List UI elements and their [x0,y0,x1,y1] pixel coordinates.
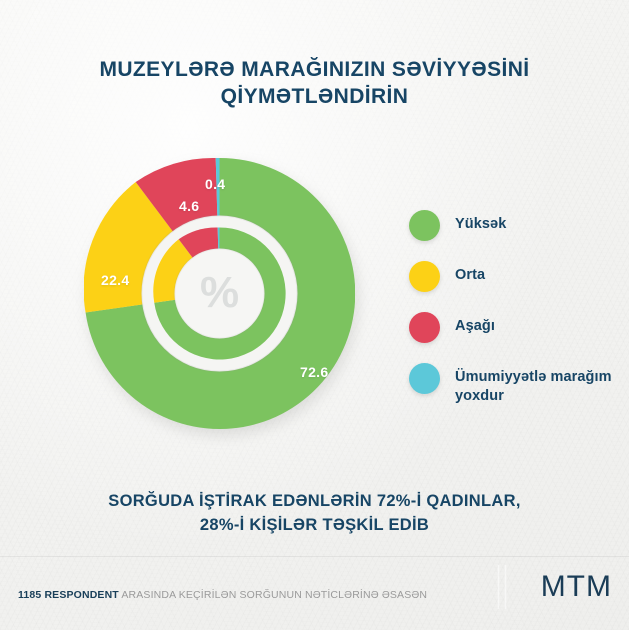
slice-value-yuksek: 72.6 [300,364,328,380]
legend-item-maragim-yoxdur[interactable]: Ümumiyyətlə marağım yoxdur [409,363,614,406]
legend-item-yuksek[interactable]: Yüksək [409,210,614,242]
slice-value-orta: 22.4 [101,272,129,288]
statement-line-2: 28%-İ KİŞİLƏR TƏŞKİL EDİB [0,513,629,537]
slice-value-asagi: 4.6 [179,198,199,214]
legend-label-maragim-yoxdur: Ümumiyyətlə marağım yoxdur [455,363,614,406]
donut-chart: % 72.6 22.4 4.6 0.4 [84,158,360,448]
legend-label-yuksek: Yüksək [455,210,506,234]
legend-swatch-green [409,210,440,241]
title-line-1: MUZEYLƏRƏ MARAĞINIZIN SƏVİYYƏSİNİ [99,58,529,81]
chart-legend: Yüksək Orta Aşağı Ümumiyyətlə marağım yo… [409,210,614,425]
respondent-count: 1185 RESPONDENT [18,589,119,601]
footer-note-text: ARASINDA KEÇİRİLƏN SORĞUNUN NƏTİCLƏRİNƏ … [121,589,427,601]
title-line-2: QİYMƏTLƏNDİRİN [0,83,629,110]
mtm-grid-icon [477,565,531,609]
page-title: MUZEYLƏRƏ MARAĞINIZIN SƏVİYYƏSİNİ QİYMƏT… [0,56,629,110]
footer-source-note: 1185 RESPONDENT ARASINDA KEÇİRİLƏN SORĞU… [18,589,427,601]
legend-label-asagi: Aşağı [455,312,495,336]
legend-item-asagi[interactable]: Aşağı [409,312,614,344]
footer-divider [0,556,629,557]
legend-swatch-cyan [409,363,440,394]
legend-swatch-red [409,312,440,343]
donut-chart-svg [84,158,355,429]
slice-value-maragim-yoxdur: 0.4 [205,176,225,192]
legend-label-orta: Orta [455,261,485,285]
legend-item-orta[interactable]: Orta [409,261,614,293]
brand-name-text: MTM [541,572,612,602]
brand-logo[interactable]: MTM [477,565,612,609]
infographic-poster: MUZEYLƏRƏ MARAĞINIZIN SƏVİYYƏSİNİ QİYMƏT… [0,0,629,630]
summary-statement: SORĞUDA İŞTİRAK EDƏNLƏRİN 72%-İ QADINLAR… [0,489,629,537]
statement-line-1: SORĞUDA İŞTİRAK EDƏNLƏRİN 72%-İ QADINLAR… [108,492,520,510]
legend-swatch-yellow [409,261,440,292]
